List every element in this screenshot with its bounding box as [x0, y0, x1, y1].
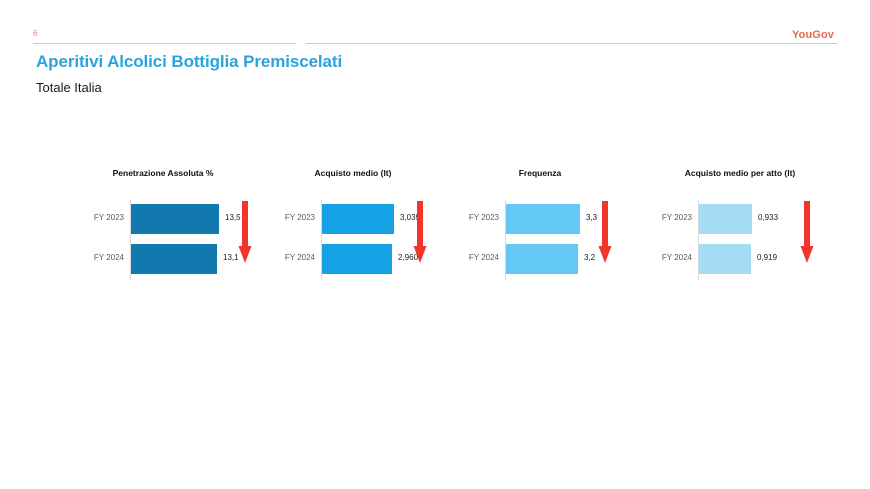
- bar-value-label: 3,2: [584, 253, 595, 262]
- chart-title: Acquisto medio per atto (lt): [640, 168, 840, 179]
- chart-plot-area: FY 20230,933FY 20240,919: [640, 200, 840, 280]
- chart-bar-row: FY 202313,5: [68, 204, 258, 234]
- bar-category-label: FY 2023: [285, 213, 315, 222]
- page-number: 6: [33, 29, 37, 39]
- chart-title: Penetrazione Assoluta %: [68, 168, 258, 179]
- bar-category-label: FY 2023: [662, 213, 692, 222]
- yougov-logo: YouGov: [792, 29, 834, 41]
- chart-block: Penetrazione Assoluta %FY 202313,5FY 202…: [68, 168, 258, 288]
- charts-row: Penetrazione Assoluta %FY 202313,5FY 202…: [0, 168, 870, 288]
- chart-bar: [322, 204, 394, 234]
- chart-block: Acquisto medio (lt)FY 20233,039FY 20242,…: [263, 168, 443, 288]
- chart-plot-area: FY 20233,3FY 20243,2: [450, 200, 630, 280]
- bar-category-label: FY 2024: [662, 253, 692, 262]
- chart-title: Frequenza: [450, 168, 630, 179]
- bar-category-label: FY 2024: [94, 253, 124, 262]
- chart-block: Acquisto medio per atto (lt)FY 20230,933…: [640, 168, 840, 288]
- chart-bar: [699, 204, 752, 234]
- chart-bar: [506, 244, 578, 274]
- chart-plot-area: FY 202313,5FY 202413,1: [68, 200, 258, 280]
- header-divider-left: [33, 43, 296, 44]
- chart-bar: [131, 244, 217, 274]
- slide-subtitle: Totale Italia: [36, 80, 102, 95]
- arrow-down-icon: [798, 201, 816, 267]
- bar-category-label: FY 2023: [469, 213, 499, 222]
- bar-value-label: 0,933: [758, 213, 778, 222]
- bar-category-label: FY 2024: [469, 253, 499, 262]
- chart-plot-area: FY 20233,039FY 20242,960: [263, 200, 443, 280]
- chart-bar: [131, 204, 219, 234]
- arrow-down-icon: [236, 201, 254, 267]
- bar-category-label: FY 2023: [94, 213, 124, 222]
- slide-title: Aperitivi Alcolici Bottiglia Premiscelat…: [36, 52, 342, 72]
- bar-value-label: 0,919: [757, 253, 777, 262]
- chart-title: Acquisto medio (lt): [263, 168, 443, 179]
- chart-bar: [506, 204, 580, 234]
- chart-bar: [699, 244, 751, 274]
- chart-block: FrequenzaFY 20233,3FY 20243,2: [450, 168, 630, 288]
- chart-bar-row: FY 202413,1: [68, 244, 258, 274]
- header-divider-right: [306, 43, 837, 44]
- chart-bar: [322, 244, 392, 274]
- arrow-down-icon: [596, 201, 614, 267]
- arrow-down-icon: [411, 201, 429, 267]
- bar-category-label: FY 2024: [285, 253, 315, 262]
